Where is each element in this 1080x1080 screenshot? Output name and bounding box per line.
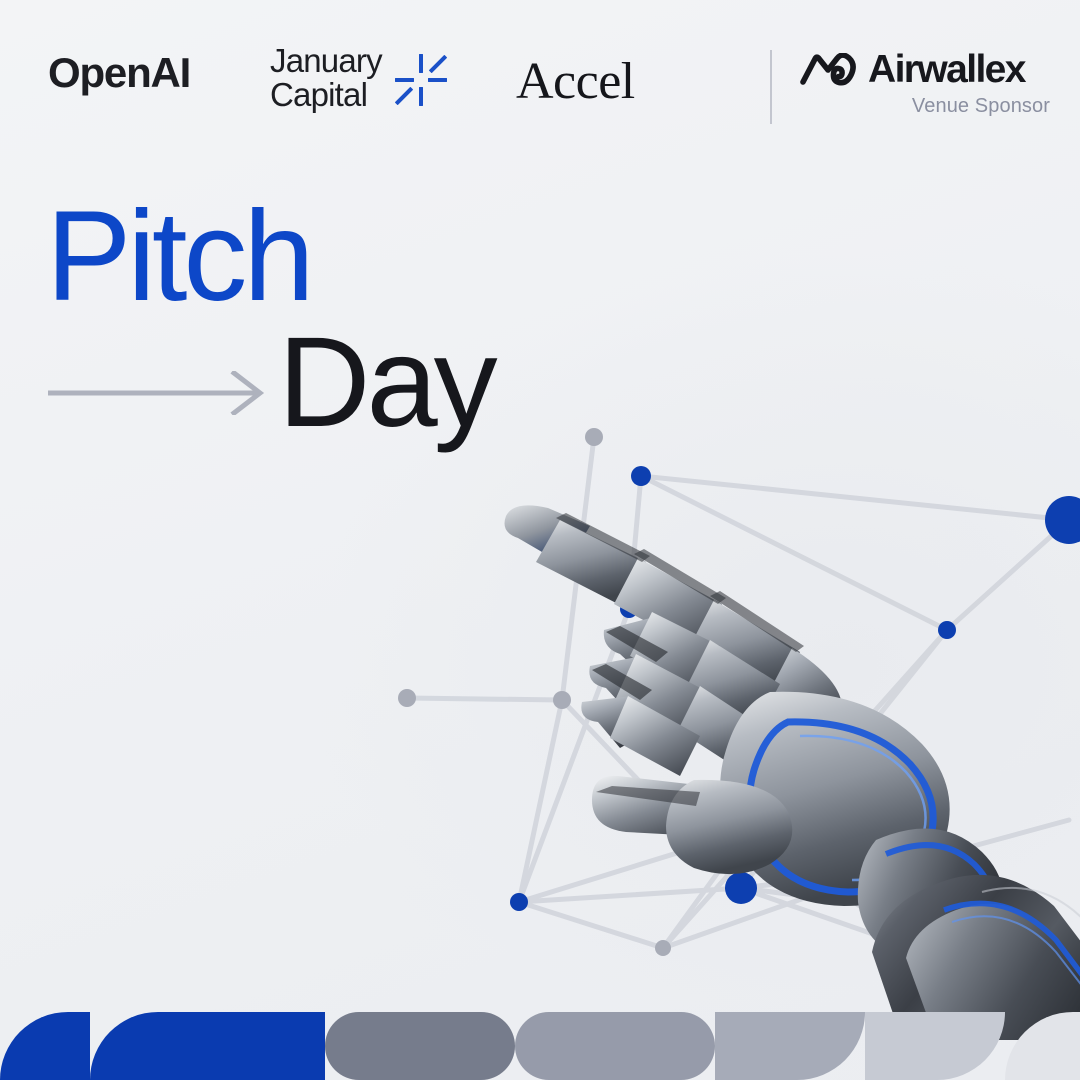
openai-logo[interactable]: OpenAI: [48, 52, 190, 94]
thumb: [592, 776, 792, 874]
blue-pill-wide: [90, 1012, 325, 1080]
gray-round-light: [865, 1012, 1005, 1080]
headline-block: Pitch Day: [46, 196, 666, 451]
gray-pill-mid: [515, 1012, 715, 1080]
january-capital-wordmark: January Capital: [270, 44, 382, 113]
airwallex-logo[interactable]: Airwallex Venue Sponsor: [800, 50, 1050, 116]
airwallex-mark-icon: [800, 53, 856, 87]
january-capital-line1: January: [270, 44, 382, 78]
venue-sponsor-label: Venue Sponsor: [800, 96, 1050, 116]
headline-day: Day: [278, 315, 494, 451]
robotic-hand-pointing-icon: [470, 440, 1080, 1040]
airwallex-wordmark: Airwallex: [868, 50, 1025, 89]
right-arrow-icon: [46, 371, 274, 415]
sponsor-divider: [770, 50, 772, 124]
headline-pitch: Pitch: [46, 196, 666, 319]
bottom-shape-strip: [0, 1000, 1080, 1080]
january-capital-asterisk-icon: [394, 53, 448, 107]
pitch-day-poster: OpenAI January Capital Accel Airwallex V…: [0, 0, 1080, 1080]
blue-quarter-round: [0, 1012, 90, 1080]
sponsor-bar: OpenAI January Capital Accel Airwallex V…: [0, 0, 1080, 150]
gray-pill-dark: [325, 1012, 515, 1080]
accel-logo[interactable]: Accel: [516, 56, 635, 108]
gray-lightest: [1005, 1012, 1080, 1080]
gray-round-right: [715, 1012, 865, 1080]
january-capital-logo[interactable]: January Capital: [270, 44, 448, 113]
january-capital-line2: Capital: [270, 78, 382, 112]
network-node: [398, 689, 416, 707]
